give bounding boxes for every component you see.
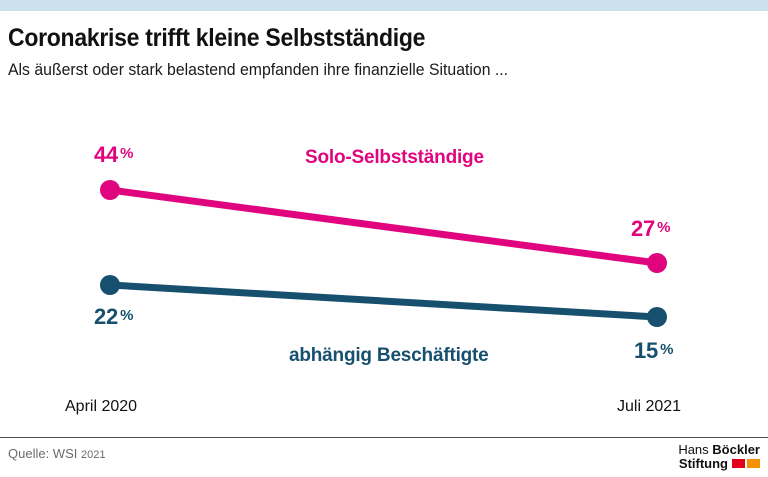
data-label-abhaengig-juli-2021: 15% [634, 338, 673, 364]
infographic-page: Coronakrise trifft kleine Selbstständige… [0, 0, 768, 477]
logo-color-blocks [732, 456, 760, 469]
x-axis-tick-label-juli-2021: Juli 2021 [617, 398, 681, 416]
data-label-abhaengig-juli-2021-value: 15 [634, 338, 658, 363]
data-point-solo-april-2020 [100, 180, 120, 200]
source-note-text: Quelle: WSI [8, 446, 77, 461]
data-label-solo-april-2020-unit: % [120, 145, 133, 162]
data-point-solo-juli-2021 [647, 253, 667, 273]
footer-divider [0, 437, 768, 438]
data-label-solo-juli-2021: 27% [631, 216, 670, 242]
data-label-solo-april-2020-value: 44 [94, 142, 118, 167]
logo-word-boeckler: Böckler [712, 442, 760, 457]
data-point-abhaengig-juli-2021 [647, 307, 667, 327]
logo-word-hans: Hans [678, 442, 708, 457]
data-label-solo-juli-2021-unit: % [657, 219, 670, 236]
logo-block-red-icon [732, 459, 745, 468]
series-label-abhaengig-beschaeftigte: abhängig Beschäftigte [289, 345, 489, 367]
series-line-solo-selbststaendige [110, 190, 657, 263]
data-label-abhaengig-april-2020-unit: % [120, 307, 133, 324]
x-axis-tick-label-april-2020: April 2020 [65, 398, 137, 416]
data-label-solo-juli-2021-value: 27 [631, 216, 655, 241]
hans-boeckler-stiftung-logo: Hans Böckler Stiftung [678, 443, 760, 470]
series-line-abhaengig-beschaeftigte [110, 285, 657, 317]
source-note-year: 2021 [81, 449, 105, 461]
logo-line-1: Hans Böckler [678, 443, 760, 456]
data-label-solo-april-2020: 44% [94, 142, 133, 168]
series-label-solo-selbststaendige: Solo-Selbstständige [305, 147, 484, 169]
data-label-abhaengig-juli-2021-unit: % [660, 341, 673, 358]
data-point-abhaengig-april-2020 [100, 275, 120, 295]
logo-word-stiftung: Stiftung [679, 456, 728, 471]
top-accent-bar [0, 0, 768, 11]
page-subtitle: Als äußerst oder stark belastend empfand… [8, 60, 508, 80]
data-label-abhaengig-april-2020: 22% [94, 304, 133, 330]
logo-line-2: Stiftung [678, 456, 760, 470]
source-note: Quelle: WSI 2021 [8, 446, 105, 461]
page-title: Coronakrise trifft kleine Selbstständige [8, 24, 425, 53]
data-label-abhaengig-april-2020-value: 22 [94, 304, 118, 329]
logo-block-orange-icon [747, 459, 760, 468]
